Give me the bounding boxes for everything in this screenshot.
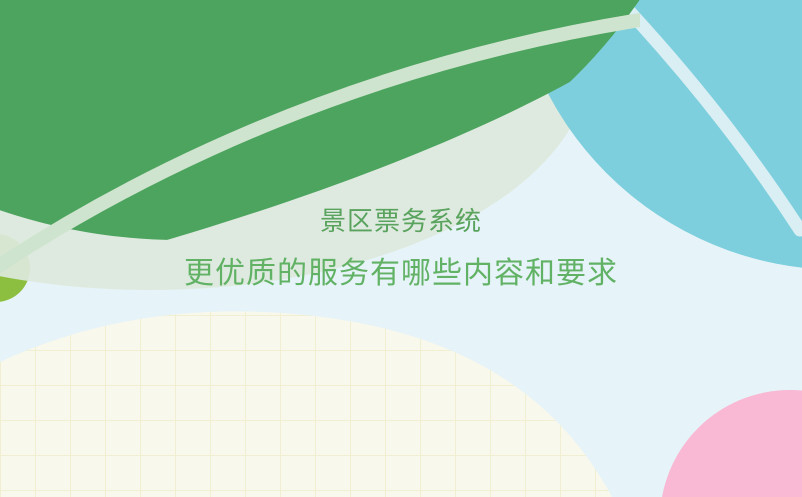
slide-canvas: 景区票务系统 更优质的服务有哪些内容和要求	[0, 0, 802, 497]
decorative-background	[0, 0, 802, 497]
